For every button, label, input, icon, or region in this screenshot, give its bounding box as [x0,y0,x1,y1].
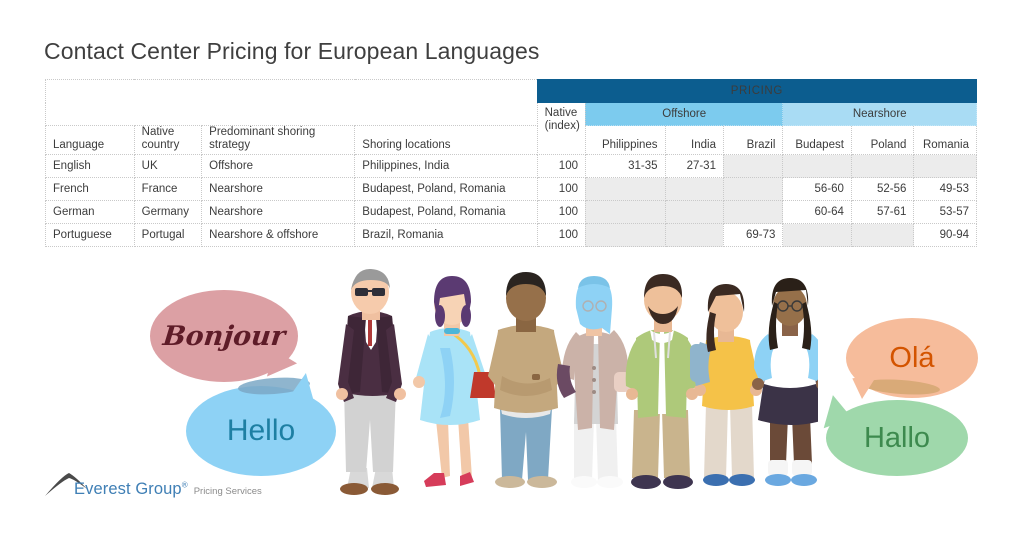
cell-native-country: Portugal [134,224,202,247]
cell-philippines [585,201,665,224]
native-index-line1: Native [545,107,578,119]
column-header-language: Language [46,126,135,155]
cell-locations: Philippines, India [355,155,537,178]
cell-locations: Budapest, Poland, Romania [355,201,537,224]
column-header-romania: Romania [914,126,977,155]
pricing-group-header: PRICING [537,80,976,103]
everest-group-logo: Everest Group® Pricing Services [44,464,262,498]
strategy-line2: strategy [209,139,250,151]
cell-native-country: France [134,178,202,201]
pricing-table-wrapper: PRICING Native (index) Offshore Nearshor… [45,79,977,247]
cell-romania: 49-53 [914,178,977,201]
offshore-group-header: Offshore [585,103,782,126]
table-row: English UK Offshore Philippines, India 1… [46,155,977,178]
cell-brazil [723,178,782,201]
cell-india [665,201,723,224]
bonjour-bubble-text: Bonjour [161,321,286,352]
hallo-bubble-text: Hallo [864,422,930,455]
cell-strategy: Nearshore & offshore [202,224,355,247]
table-row: Portuguese Portugal Nearshore & offshore… [46,224,977,247]
native-country-line2: country [142,139,180,151]
cell-philippines: 31-35 [585,155,665,178]
column-header-locations: Shoring locations [355,126,537,155]
cell-poland: 57-61 [851,201,913,224]
column-header-budapest: Budapest [783,126,852,155]
column-header-india: India [665,126,723,155]
cell-native-country: UK [134,155,202,178]
nearshore-group-header: Nearshore [783,103,977,126]
table-row: German Germany Nearshore Budapest, Polan… [46,201,977,224]
cell-native-country: Germany [134,201,202,224]
cell-strategy: Nearshore [202,201,355,224]
person-5 [626,274,699,489]
cell-brazil [723,155,782,178]
cell-poland [851,155,913,178]
column-header-poland: Poland [851,126,913,155]
strategy-line1: Predominant shoring [209,126,315,138]
logo-registered-mark: ® [182,481,188,490]
header-blank-cell [46,80,538,126]
hello-bubble-text: Hello [227,414,295,448]
people-illustration [318,268,818,500]
native-index-line2: (index) [545,120,580,132]
cell-philippines [585,178,665,201]
table-header-row-group: PRICING [46,80,977,103]
table-header-row-columns: Language Native country Predominant shor… [46,126,977,155]
pricing-table: PRICING Native (index) Offshore Nearshor… [45,79,977,247]
cell-brazil: 69-73 [723,224,782,247]
cell-poland [851,224,913,247]
cell-language: French [46,178,135,201]
cell-budapest: 56-60 [783,178,852,201]
ola-bubble-text: Olá [889,342,934,375]
ola-bubble-tail [852,374,881,400]
page-title: Contact Center Pricing for European Lang… [44,38,539,65]
cell-strategy: Offshore [202,155,355,178]
cell-native-index: 100 [537,201,585,224]
cell-budapest: 60-64 [783,201,852,224]
table-row: French France Nearshore Budapest, Poland… [46,178,977,201]
logo-tagline: Pricing Services [194,486,262,497]
cell-romania: 53-57 [914,201,977,224]
cell-india [665,224,723,247]
logo-name: Everest Group [74,480,182,498]
cell-locations: Brazil, Romania [355,224,537,247]
person-3 [488,272,564,488]
cell-philippines [585,224,665,247]
cell-native-index: 100 [537,155,585,178]
cell-native-index: 100 [537,178,585,201]
cell-language: Portuguese [46,224,135,247]
native-country-line1: Native [142,126,175,138]
column-header-brazil: Brazil [723,126,782,155]
column-header-strategy: Predominant shoring strategy [202,126,355,155]
person-1 [336,269,406,495]
native-index-header: Native (index) [537,103,585,155]
cell-language: German [46,201,135,224]
cell-romania: 90-94 [914,224,977,247]
person-7 [752,278,818,486]
cell-india: 27-31 [665,155,723,178]
slide-canvas: Contact Center Pricing for European Lang… [0,0,1024,536]
person-4 [557,276,630,488]
cell-locations: Budapest, Poland, Romania [355,178,537,201]
logo-wordmark: Everest Group® [74,480,188,499]
cell-budapest [783,155,852,178]
cell-poland: 52-56 [851,178,913,201]
cell-india [665,178,723,201]
column-header-native-country: Native country [134,126,202,155]
cell-language: English [46,155,135,178]
cell-romania [914,155,977,178]
cell-budapest [783,224,852,247]
column-header-philippines: Philippines [585,126,665,155]
person-2 [413,276,496,487]
cell-strategy: Nearshore [202,178,355,201]
cell-brazil [723,201,782,224]
cell-native-index: 100 [537,224,585,247]
person-6 [690,284,762,486]
